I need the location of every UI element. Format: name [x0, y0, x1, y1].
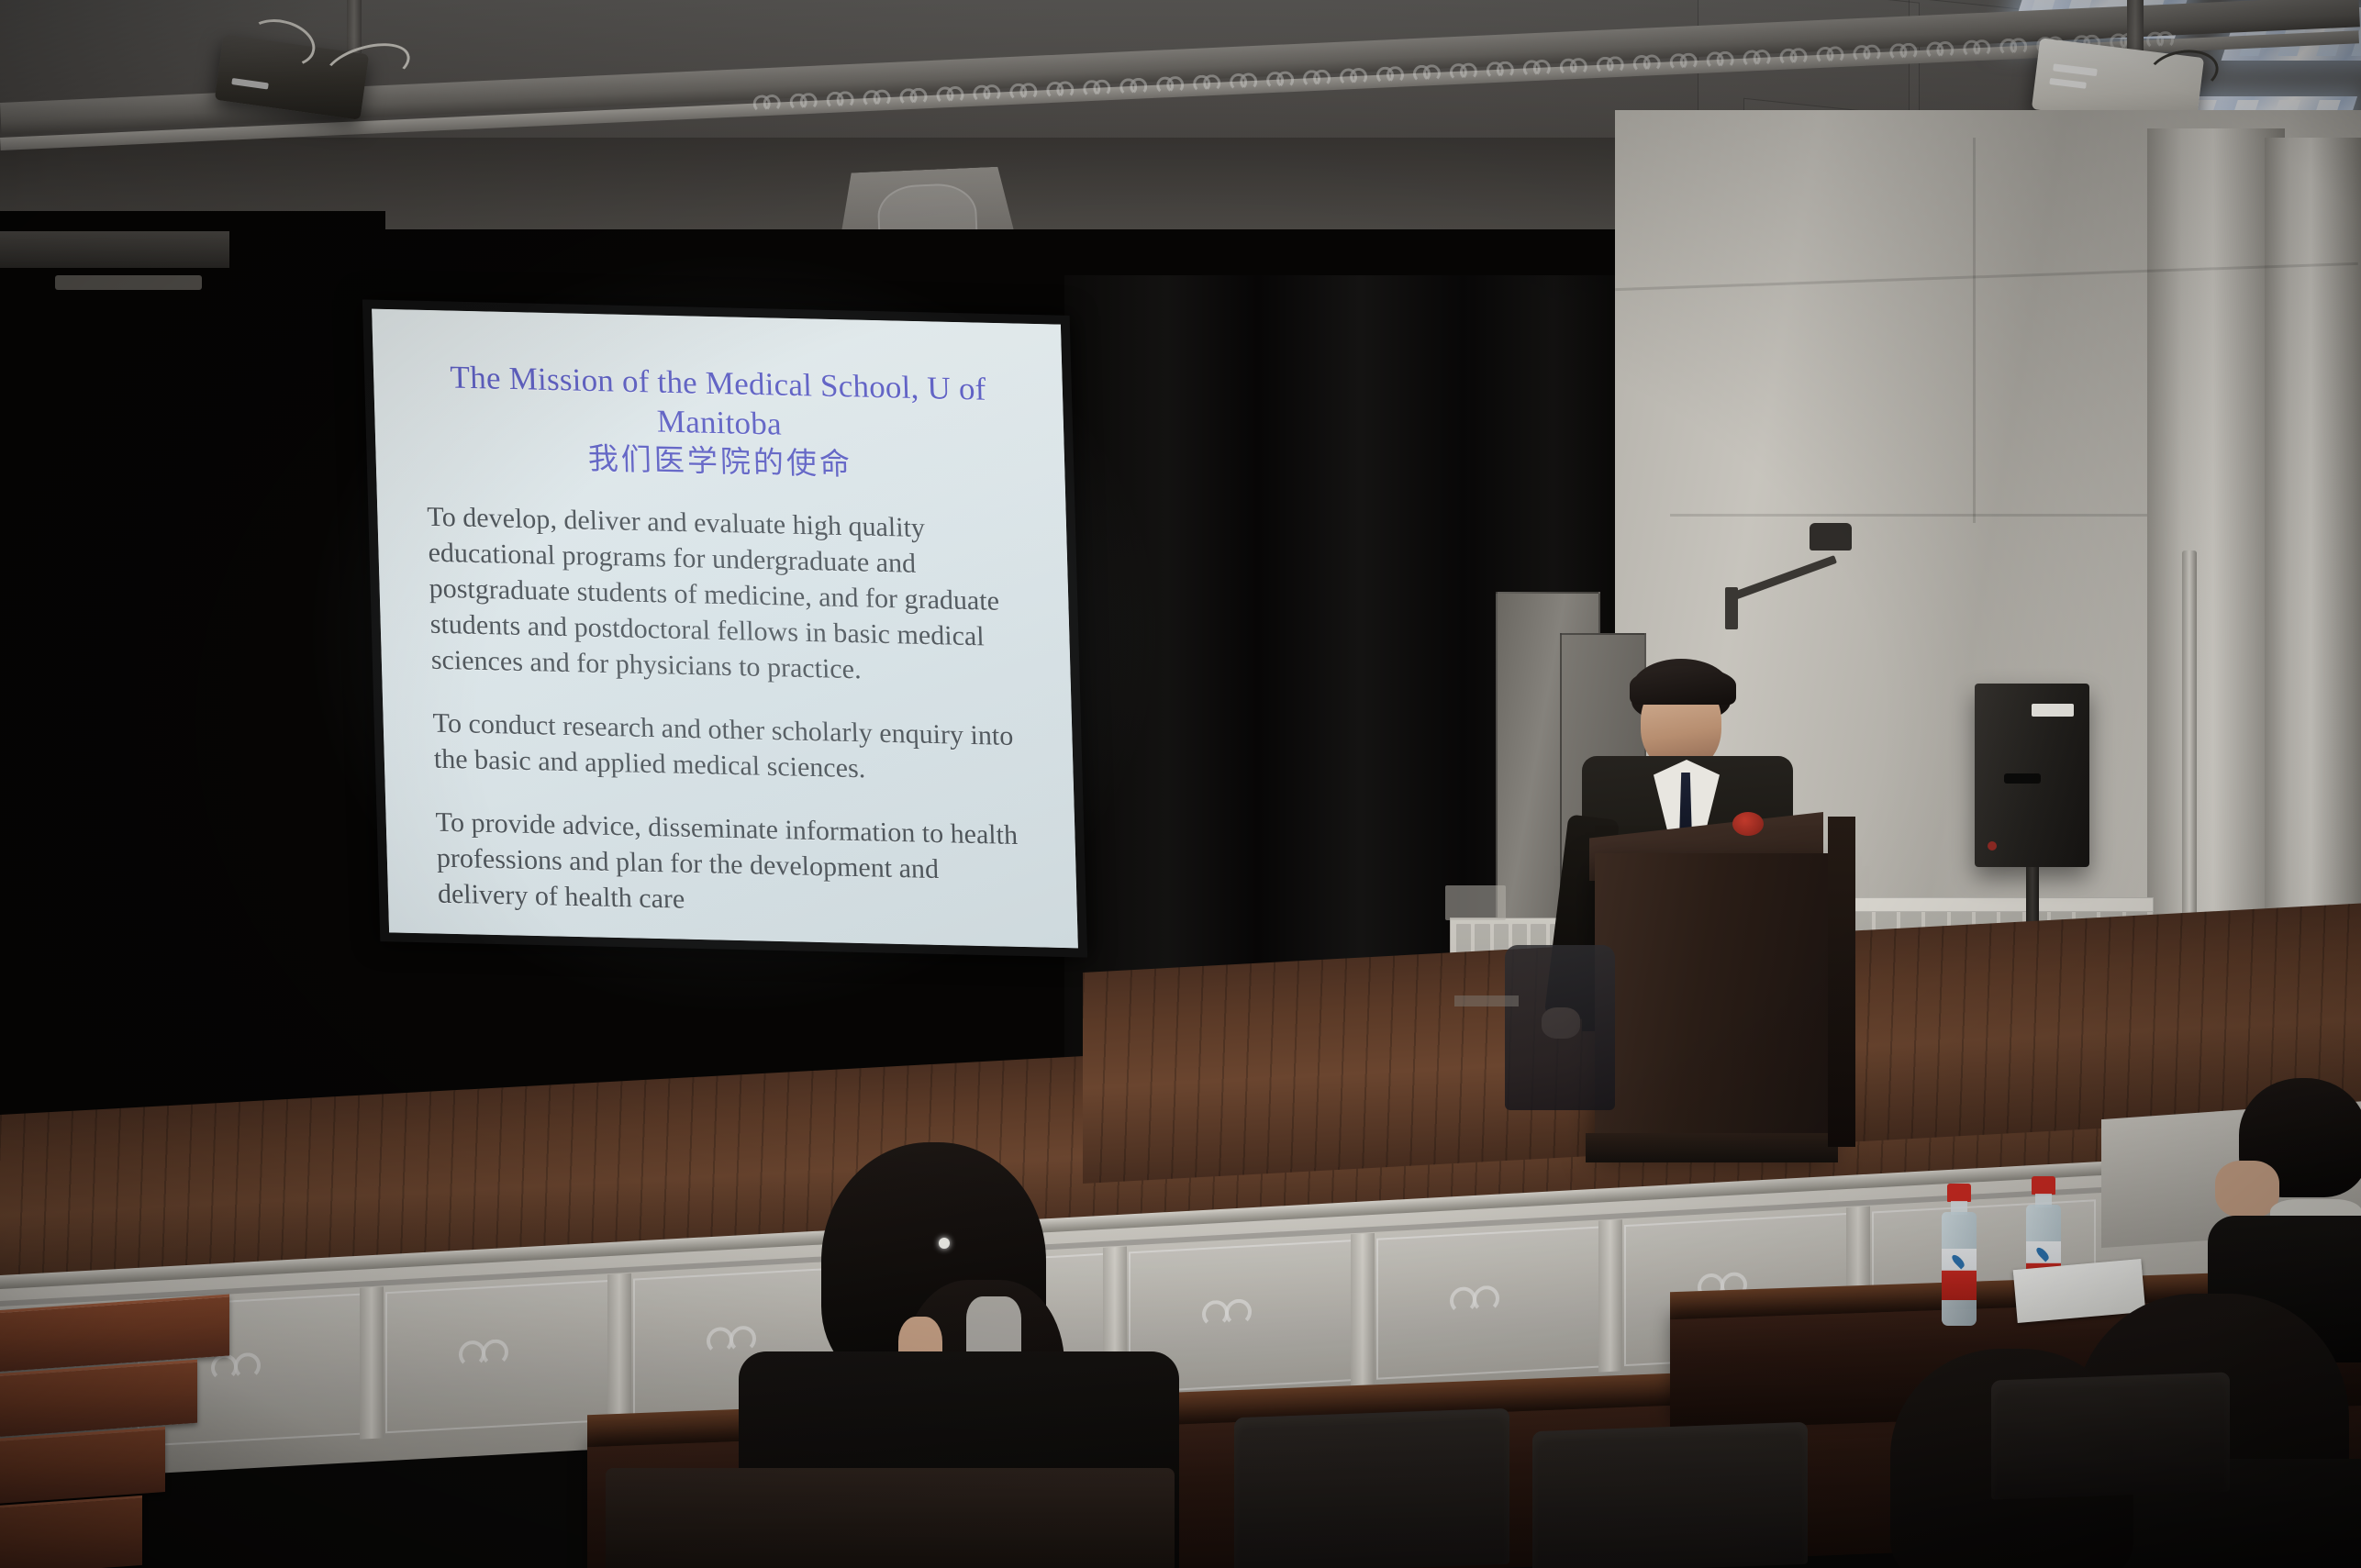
- lecture-hall-scene: The Mission of the Medical School, U of …: [0, 0, 2361, 1568]
- ruyi-motif-icon: [1119, 75, 1148, 96]
- projection-screen: The Mission of the Medical School, U of …: [372, 309, 1078, 949]
- ruyi-motif-icon: [936, 84, 964, 106]
- ruyi-motif-icon: [1669, 50, 1698, 72]
- ruyi-motif-icon: [1156, 74, 1185, 95]
- apron-ruyi-motif-icon: [459, 1335, 508, 1369]
- presenter-hairline: [1630, 666, 1736, 705]
- ruyi-motif-icon: [1412, 62, 1441, 83]
- ruyi-motif-icon: [1706, 49, 1734, 70]
- ruyi-motif-icon: [1486, 59, 1514, 80]
- ruyi-motif-icon: [1193, 72, 1221, 94]
- stage-backdrop-left: [0, 211, 385, 1184]
- ruyi-motif-icon: [899, 85, 928, 106]
- wall-seam: [1670, 514, 2147, 517]
- ruyi-motif-icon: [752, 93, 781, 114]
- projector-mount-pole-left: [347, 0, 362, 53]
- ruyi-motif-icon: [826, 89, 854, 110]
- ruyi-motif-icon: [1559, 56, 1587, 77]
- apron-pilaster: [1598, 1219, 1622, 1372]
- ruyi-motif-icon: [1779, 46, 1808, 67]
- ruyi-motif-icon: [863, 87, 891, 108]
- ruyi-motif-icon: [1266, 69, 1295, 90]
- ruyi-motif-icon: [1046, 79, 1075, 100]
- apron-ruyi-motif-icon: [1450, 1282, 1499, 1316]
- projection-screen-frame: The Mission of the Medical School, U of …: [362, 299, 1087, 957]
- ruyi-motif-icon: [1449, 61, 1477, 82]
- projector-mount-pole-right: [2127, 0, 2144, 51]
- slide-title-cn: 我们医学院的使命: [425, 438, 1016, 488]
- hair-clip: [939, 1238, 950, 1249]
- stage-equipment-box: [1445, 885, 1506, 920]
- apron-pilaster: [360, 1286, 384, 1439]
- bench: [606, 1468, 1175, 1568]
- left-soffit: [0, 231, 229, 268]
- apron-pilaster: [607, 1273, 631, 1426]
- podium-base: [1586, 1133, 1838, 1162]
- wall-seam-vertical: [1973, 138, 1976, 523]
- ruyi-motif-icon: [973, 83, 1001, 104]
- ruyi-motif-icon: [1009, 81, 1038, 102]
- apron-pilaster: [1351, 1233, 1375, 1385]
- ruyi-motif-icon: [1230, 71, 1258, 92]
- ruyi-motif-icon: [1522, 58, 1551, 79]
- slide-paragraph-2: To conduct research and other scholarly …: [432, 705, 1024, 790]
- seat-back: [1991, 1372, 2230, 1499]
- presentation-slide: The Mission of the Medical School, U of …: [372, 309, 1078, 949]
- slide-paragraph-1: To develop, deliver and evaluate high qu…: [427, 498, 1021, 691]
- slide-paragraph-3: To provide advice, disseminate informati…: [435, 804, 1028, 925]
- stage-chair: [1505, 945, 1615, 1110]
- podium: [1595, 853, 1829, 1147]
- stage-step: [0, 1427, 165, 1505]
- stage-step: [0, 1496, 142, 1568]
- water-bottle: [1938, 1184, 1980, 1326]
- wall-lamp-bracket: [1725, 587, 1738, 629]
- ruyi-motif-icon: [1596, 54, 1624, 75]
- ruyi-motif-icon: [1375, 64, 1404, 85]
- ruyi-motif-icon: [789, 91, 818, 112]
- seat-back: [1234, 1408, 1509, 1568]
- ruyi-motif-icon: [1816, 44, 1844, 65]
- stage-shelf: [1454, 995, 1519, 1006]
- ruyi-motif-icon: [1853, 42, 1881, 63]
- left-wall-fixture: [55, 275, 202, 290]
- podium-side: [1828, 817, 1855, 1147]
- slide-title-en: The Mission of the Medical School, U of …: [450, 359, 986, 441]
- pa-speaker-handle: [2004, 773, 2041, 784]
- pa-speaker: [1975, 684, 2089, 867]
- wall-lamp-head: [1810, 523, 1852, 550]
- apron-ruyi-motif-icon: [1202, 1295, 1252, 1329]
- ruyi-motif-icon: [1743, 48, 1771, 69]
- ruyi-motif-icon: [1999, 36, 2028, 57]
- ruyi-motif-icon: [2146, 29, 2175, 50]
- slide-body: The Mission of the Medical School, U of …: [372, 309, 1078, 949]
- ruyi-motif-icon: [1340, 66, 1368, 87]
- ruyi-motif-icon: [1889, 40, 1918, 61]
- pa-speaker-label: [2032, 704, 2074, 717]
- ruyi-motif-icon: [1303, 67, 1331, 88]
- slide-title: The Mission of the Medical School, U of …: [423, 358, 1016, 488]
- podium-microphone-flower: [1732, 812, 1764, 836]
- ruyi-motif-icon: [1963, 38, 1991, 59]
- ruyi-motif-icon: [1083, 77, 1111, 98]
- ruyi-motif-icon: [1632, 52, 1661, 73]
- pa-speaker-led: [1988, 841, 1997, 851]
- ruyi-motif-icon: [1926, 39, 1955, 61]
- seat-back: [1532, 1422, 1808, 1568]
